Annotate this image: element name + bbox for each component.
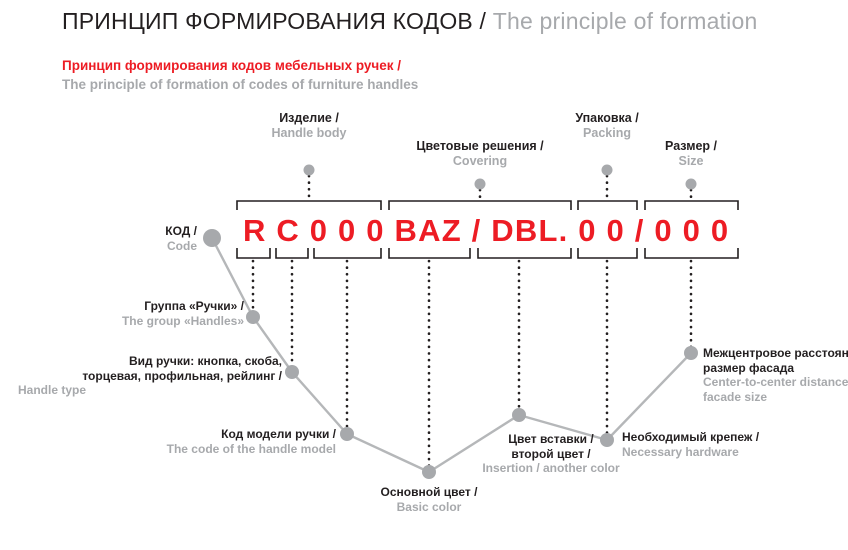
- label-handle-type: Вид ручки: кнопка, скоба, торцевая, проф…: [18, 354, 282, 398]
- label-insertion-color-en: Insertion / another color: [451, 461, 651, 476]
- label-insertion-color-ru-line1: Цвет вставки /: [451, 432, 651, 447]
- dot-group-handles: [246, 310, 260, 324]
- label-handle-type-en: Handle type: [18, 383, 282, 398]
- label-group-handles: Группа «Ручки» / The group «Handles»: [48, 299, 244, 328]
- label-hardware-en: Necessary hardware: [622, 445, 842, 460]
- label-covering-ru: Цветовые решения /: [380, 139, 580, 154]
- bracket-top-size: [645, 201, 738, 210]
- label-model-code: Код модели ручки / The code of the handl…: [98, 427, 336, 456]
- top-leader-lines: [309, 176, 691, 199]
- diagram-graphics: [0, 0, 848, 550]
- label-center-distance-ru-line2: размер фасада: [703, 361, 848, 376]
- dot-handle-type: [285, 365, 299, 379]
- dot-packing: [602, 165, 613, 176]
- label-model-code-ru: Код модели ручки /: [98, 427, 336, 442]
- label-basic-color-en: Basic color: [329, 500, 529, 515]
- label-handle-body: Изделие / Handle body: [229, 111, 389, 140]
- label-handle-body-en: Handle body: [229, 126, 389, 141]
- dot-handle-body: [304, 165, 315, 176]
- dot-covering: [475, 179, 486, 190]
- dot-size: [686, 179, 697, 190]
- label-center-distance-ru-line1: Межцентровое расстояние /: [703, 346, 848, 361]
- bracket-bottom-center-distance: [645, 248, 738, 258]
- code-string: R C 0 0 0 BAZ / DBL. 0 0 / 0 0 0: [243, 214, 729, 248]
- label-code-en: Code: [70, 239, 197, 254]
- label-handle-type-ru-line2: торцевая, профильная, рейлинг /: [18, 369, 282, 384]
- label-center-distance: Межцентровое расстояние / размер фасада …: [703, 346, 848, 404]
- bracket-bottom-group-handles: [237, 248, 270, 258]
- label-code: КОД / Code: [70, 224, 197, 253]
- label-insertion-color-ru-line2: второй цвет /: [451, 447, 651, 462]
- dot-basic-color: [422, 465, 436, 479]
- label-basic-color-ru: Основной цвет /: [329, 485, 529, 500]
- label-size: Размер / Size: [621, 139, 761, 168]
- label-center-distance-en-line1: Center-to-center distance /: [703, 375, 848, 390]
- dot-model-code: [340, 427, 354, 441]
- label-handle-type-ru-line1: Вид ручки: кнопка, скоба,: [18, 354, 282, 369]
- bracket-top-covering: [389, 201, 571, 210]
- bracket-top-packing: [578, 201, 637, 210]
- bracket-bottom-model-code: [314, 248, 381, 258]
- bracket-top-handle-body: [237, 201, 381, 210]
- label-packing-ru: Упаковка /: [527, 111, 687, 126]
- bracket-bottom-insertion-color: [478, 248, 571, 258]
- top-brackets: [237, 201, 738, 210]
- dot-center-distance: [684, 346, 698, 360]
- label-center-distance-en-line2: facade size: [703, 390, 848, 405]
- label-packing-en: Packing: [527, 126, 687, 141]
- label-size-ru: Размер /: [621, 139, 761, 154]
- label-packing: Упаковка / Packing: [527, 111, 687, 140]
- bracket-bottom-handle-type: [276, 248, 308, 258]
- top-anchor-dots: [304, 165, 697, 190]
- label-model-code-en: The code of the handle model: [98, 442, 336, 457]
- label-size-en: Size: [621, 154, 761, 169]
- code-formation-infographic: ПРИНЦИП ФОРМИРОВАНИЯ КОДОВ / The princip…: [0, 0, 848, 550]
- dot-insertion-color: [512, 408, 526, 422]
- dot-code: [203, 229, 221, 247]
- label-group-handles-en: The group «Handles»: [48, 314, 244, 329]
- bottom-brackets: [237, 248, 738, 258]
- label-hardware-ru: Необходимый крепеж /: [622, 430, 842, 445]
- bracket-bottom-basic-color: [389, 248, 470, 258]
- label-hardware: Необходимый крепеж / Necessary hardware: [622, 430, 842, 459]
- label-code-ru: КОД /: [70, 224, 197, 239]
- bracket-bottom-hardware: [578, 248, 637, 258]
- label-insertion-color: Цвет вставки / второй цвет / Insertion /…: [451, 432, 651, 476]
- label-handle-body-ru: Изделие /: [229, 111, 389, 126]
- label-basic-color: Основной цвет / Basic color: [329, 485, 529, 514]
- label-group-handles-ru: Группа «Ручки» /: [48, 299, 244, 314]
- label-covering-en: Covering: [380, 154, 580, 169]
- label-covering: Цветовые решения / Covering: [380, 139, 580, 168]
